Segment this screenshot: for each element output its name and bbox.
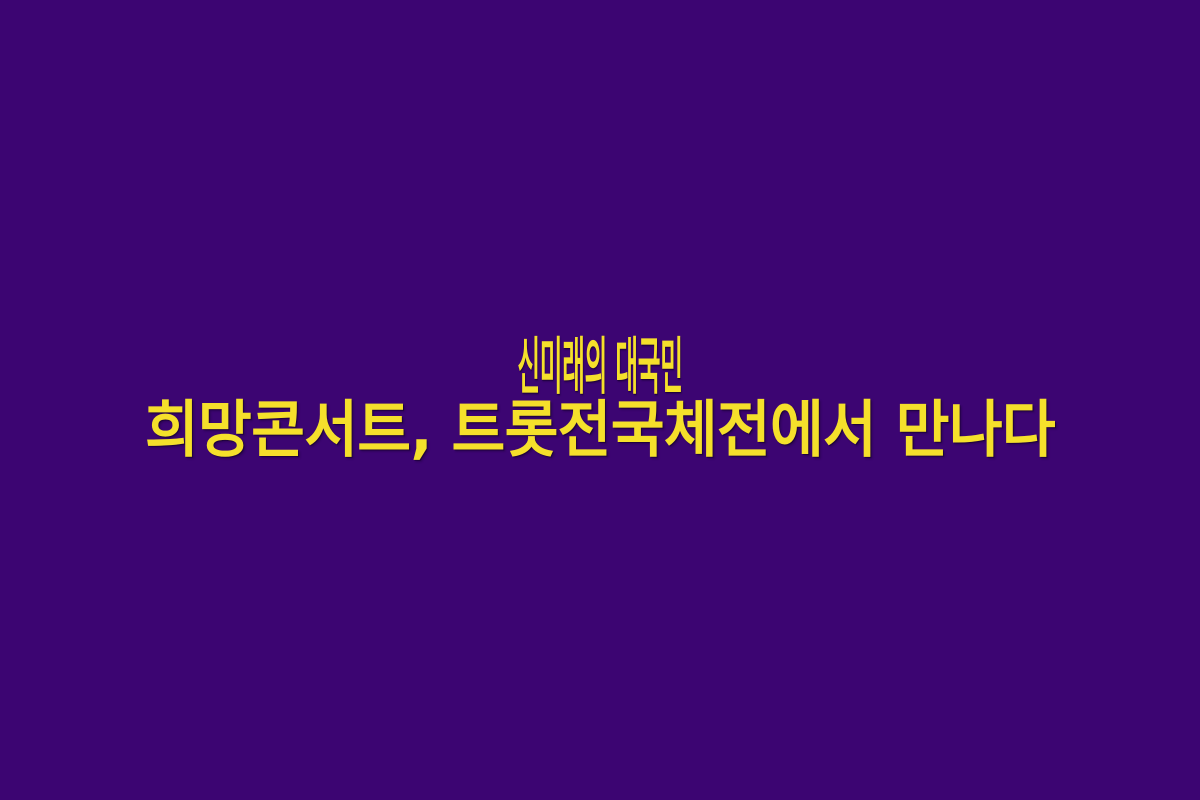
banner-canvas: 신미래의 대국민 희망콘서트, 트롯전국체전에서 만나다 [0, 0, 1200, 800]
headline-line-1: 신미래의 대국민 [366, 335, 833, 398]
headline-line-2: 희망콘서트, 트롯전국체전에서 만나다 [48, 398, 1153, 461]
headline-block: 신미래의 대국민 희망콘서트, 트롯전국체전에서 만나다 [0, 335, 1200, 461]
